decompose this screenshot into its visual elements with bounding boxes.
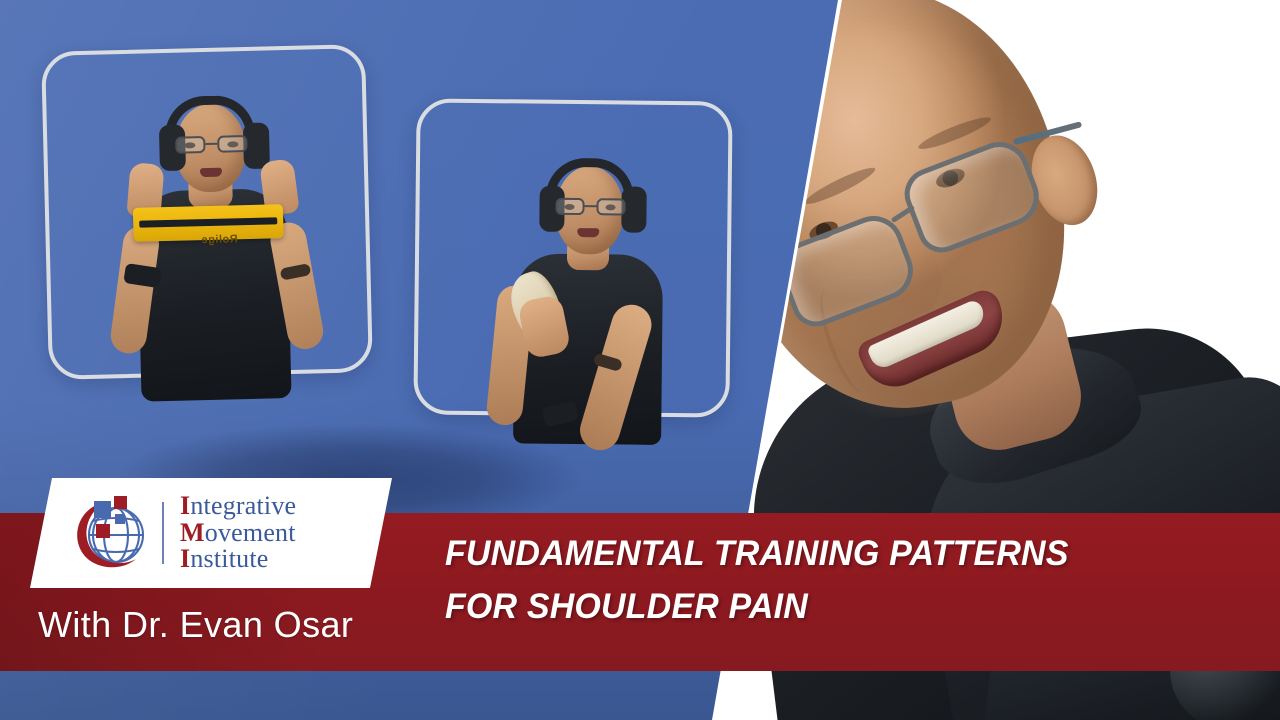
eyeglass-temple [1013,121,1082,145]
page-title-line-1: FUNDAMENTAL TRAINING PATTERNS [445,528,1211,581]
figure-bone-model [417,102,728,413]
figure1-mouth [200,168,222,178]
logo-divider [162,502,164,564]
logo-line-1-cap: I [180,491,190,520]
logo-line-2-cap: M [180,518,205,547]
figure2-mouth [577,228,599,237]
presenter-byline: With Dr. Evan Osar [38,604,353,646]
figure2-lens-right [596,198,625,215]
figure2-eyeglasses [555,198,625,217]
video-thumbnail-slide: Rolige [0,0,1280,720]
resistance-band-label: Rolige [142,233,238,251]
figure2-lens-left [555,198,584,215]
logo-line-3-rest: nstitute [190,544,268,573]
eyeglass-lens-right [897,133,1047,259]
logo-wordmark: Integrative Movement Institute [180,493,296,573]
logo-line-2: Movement [180,520,296,547]
page-title-line-2: FOR SHOULDER PAIN [445,581,1211,634]
logo-line-3-cap: I [180,544,190,573]
logo-line-2-rest: ovement [205,518,296,547]
logo-line-1: Integrative [180,493,296,520]
thumbnail-frame-1[interactable]: Rolige [41,44,373,380]
page-title: FUNDAMENTAL TRAINING PATTERNS FOR SHOULD… [445,528,1211,633]
logo-line-3: Institute [180,546,296,573]
figure2-lens-bridge [585,205,597,207]
thumbnail-frame-2[interactable] [413,98,732,417]
figure1-lens-bridge [205,143,217,145]
globe-swoosh-icon [66,493,152,573]
logo-line-1-rest: ntegrative [190,491,296,520]
brand-logo-card[interactable]: Integrative Movement Institute [30,478,392,588]
figure-resistance-band: Rolige [45,48,369,376]
figure1-eyeglasses [175,135,247,155]
figure1-lens-right [217,135,247,153]
figure1-lens-left [175,136,205,154]
